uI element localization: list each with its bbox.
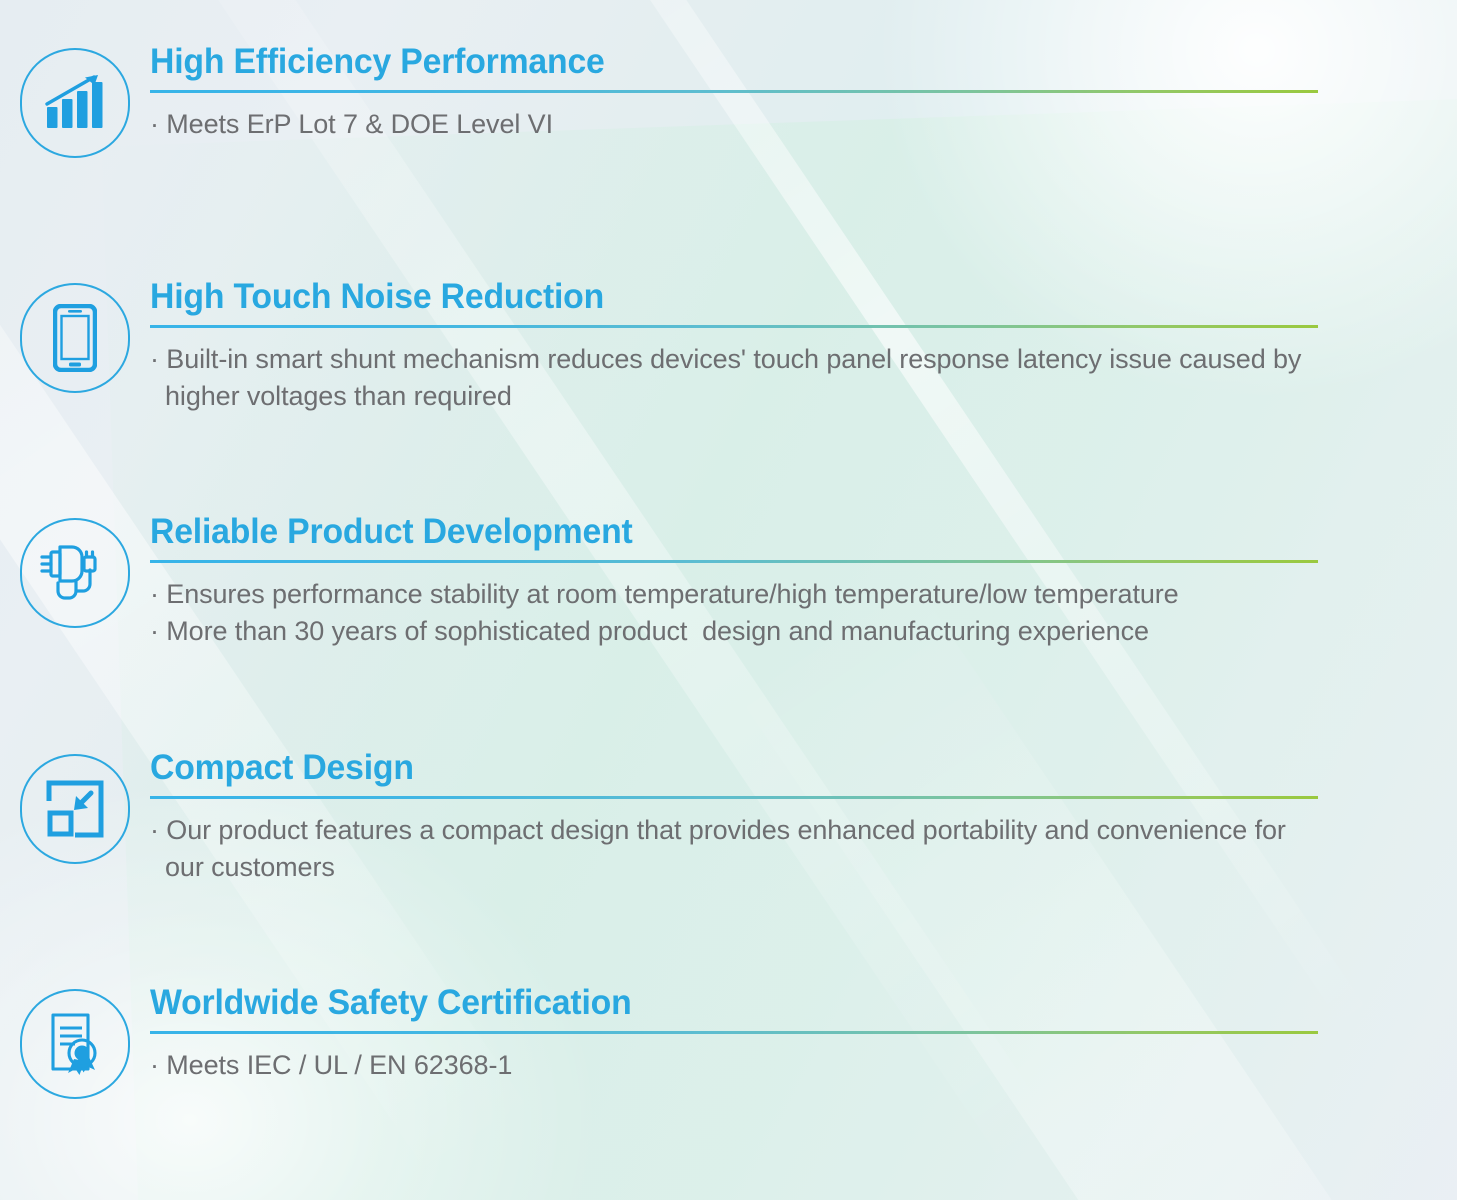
feature-title: High Efficiency Performance	[150, 42, 1335, 81]
feature-item-compact-design: Compact Design · Our product features a …	[0, 748, 1457, 887]
feature-item-worldwide-safety-certification: Worldwide Safety Certification · Meets I…	[0, 983, 1457, 1099]
feature-divider	[150, 796, 1318, 799]
feature-text-block: High Touch Noise Reduction · Built-in sm…	[89, 277, 1457, 416]
feature-title: High Touch Noise Reduction	[150, 277, 1335, 316]
feature-description-list: · Built-in smart shunt mechanism reduces…	[150, 341, 1378, 416]
feature-description-list: · Meets ErP Lot 7 & DOE Level VI	[150, 106, 1378, 143]
feature-divider	[150, 560, 1318, 563]
feature-description-line: · Built-in smart shunt mechanism reduces…	[150, 341, 1328, 416]
feature-divider	[150, 1031, 1318, 1034]
feature-divider	[150, 90, 1318, 93]
feature-description-list: · Ensures performance stability at room …	[150, 576, 1378, 651]
feature-text-block: Compact Design · Our product features a …	[89, 748, 1457, 887]
feature-description-line: · Meets IEC / UL / EN 62368-1	[150, 1047, 1378, 1084]
feature-description-line: · Meets ErP Lot 7 & DOE Level VI	[150, 106, 1378, 143]
feature-title: Compact Design	[150, 748, 1335, 787]
feature-item-high-efficiency-performance: High Efficiency Performance · Meets ErP …	[0, 42, 1457, 158]
feature-description-list: · Meets IEC / UL / EN 62368-1	[150, 1047, 1378, 1084]
feature-item-high-touch-noise-reduction: High Touch Noise Reduction · Built-in sm…	[0, 277, 1457, 416]
feature-description-line: · Our product features a compact design …	[150, 812, 1328, 887]
feature-list: High Efficiency Performance · Meets ErP …	[0, 0, 1457, 1200]
feature-text-block: Reliable Product Development · Ensures p…	[89, 512, 1457, 651]
feature-title: Worldwide Safety Certification	[150, 983, 1335, 1022]
feature-description-line: · Ensures performance stability at room …	[150, 576, 1378, 613]
feature-description-line: · More than 30 years of sophisticated pr…	[150, 613, 1378, 650]
feature-text-block: Worldwide Safety Certification · Meets I…	[89, 983, 1457, 1084]
feature-item-reliable-product-development: Reliable Product Development · Ensures p…	[0, 512, 1457, 651]
feature-text-block: High Efficiency Performance · Meets ErP …	[89, 42, 1457, 143]
feature-description-list: · Our product features a compact design …	[150, 812, 1378, 887]
feature-title: Reliable Product Development	[150, 512, 1335, 551]
feature-divider	[150, 325, 1318, 328]
